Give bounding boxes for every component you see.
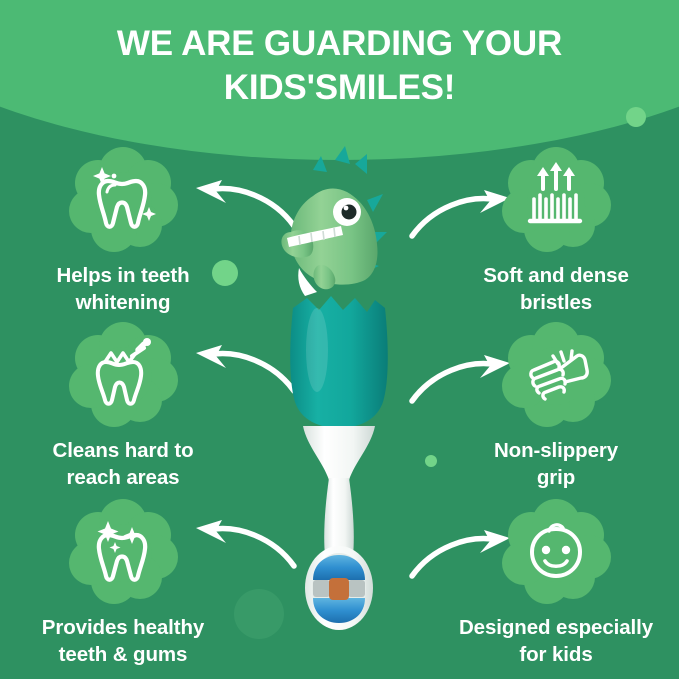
label-line-2: teeth & gums [59, 643, 188, 666]
brush-center-band-left [313, 580, 330, 597]
feature-designed-for-kids[interactable]: Designed especially for kids [441, 497, 671, 668]
grip-hand-icon [497, 320, 615, 428]
label-line-2: reach areas [67, 466, 180, 489]
label-line-2: grip [537, 466, 575, 489]
handle-shaft [324, 478, 354, 556]
label-line-1: Designed especially [459, 616, 653, 639]
dinosaur-kids-toothbrush [255, 140, 425, 630]
label-line-2: bristles [520, 291, 592, 314]
egg-shell-body [290, 296, 388, 428]
dino-eye-glint [344, 206, 349, 211]
dino-eye-pupil [342, 205, 357, 220]
feature-non-slippery-grip[interactable]: Non-slippery grip [441, 320, 671, 491]
feature-label-non-slippery-grip: Non-slippery grip [441, 437, 671, 491]
egg-highlight [306, 308, 328, 392]
feature-label-healthy-teeth-gums: Provides healthy teeth & gums [8, 614, 238, 668]
feature-soft-dense-bristles[interactable]: Soft and dense bristles [441, 145, 671, 316]
page-title: WE ARE GUARDING YOUR KIDS'SMILES! [0, 22, 679, 110]
feature-label-cleans-hard-areas: Cleans hard to reach areas [8, 437, 238, 491]
feature-label-soft-dense-bristles: Soft and dense bristles [441, 262, 671, 316]
feature-cleans-hard-areas[interactable]: Cleans hard to reach areas [8, 320, 238, 491]
handle-cone [303, 426, 375, 480]
brush-center-band-right [348, 580, 365, 597]
tooth-brushing-icon [64, 320, 182, 428]
feature-label-designed-for-kids: Designed especially for kids [441, 614, 671, 668]
baby-face-icon [497, 497, 615, 605]
infographic-canvas: WE ARE GUARDING YOUR KIDS'SMILES! [0, 0, 679, 679]
title-line-1: WE ARE GUARDING YOUR [117, 24, 562, 63]
label-line-1: Cleans hard to [53, 439, 194, 462]
label-line-2: for kids [519, 643, 592, 666]
label-line-2: whitening [76, 291, 171, 314]
title-line-2: KIDS'SMILES! [0, 66, 679, 110]
label-line-1: Non-slippery [494, 439, 618, 462]
feature-healthy-teeth-gums[interactable]: Provides healthy teeth & gums [8, 497, 238, 668]
feature-label-teeth-whitening: Helps in teeth whitening [8, 262, 238, 316]
bristles-arrows-icon [497, 145, 615, 253]
healthy-tooth-sparkle-icon [64, 497, 182, 605]
tooth-sparkle-icon [64, 145, 182, 253]
label-line-1: Provides healthy [42, 616, 204, 639]
dot-mid-right [425, 455, 437, 467]
brush-center-copper [329, 578, 349, 600]
label-line-1: Soft and dense [483, 264, 629, 287]
label-line-1: Helps in teeth [56, 264, 189, 287]
feature-teeth-whitening[interactable]: Helps in teeth whitening [8, 145, 238, 316]
